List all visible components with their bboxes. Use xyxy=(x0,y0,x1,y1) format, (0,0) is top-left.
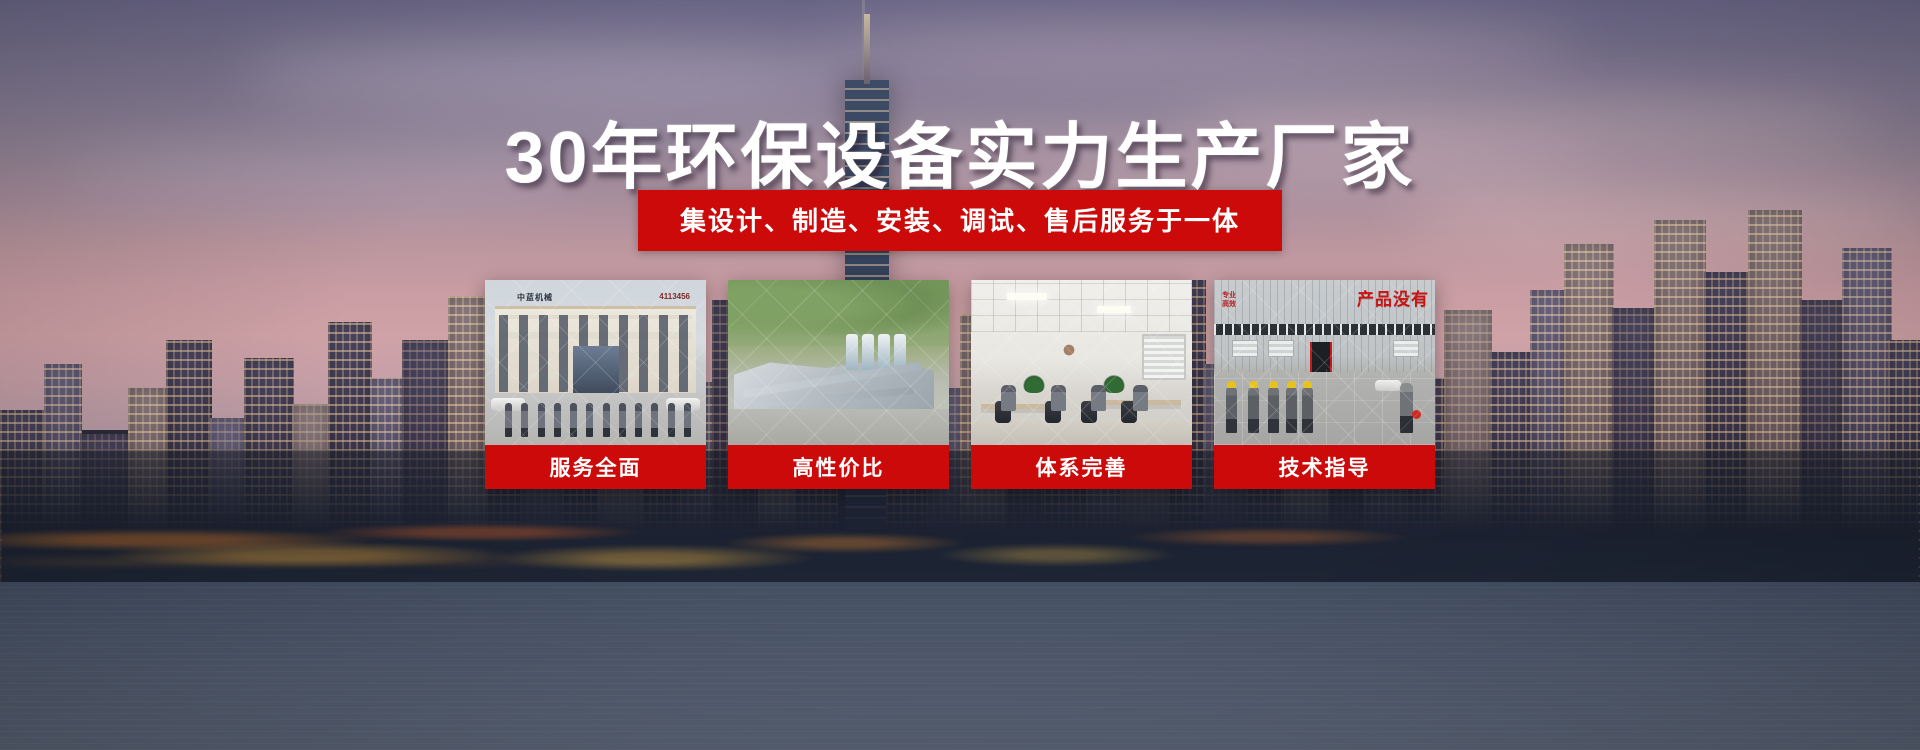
river-water xyxy=(0,582,1920,750)
subtitle-banner: 集设计、制造、安装、调试、售后服务于一体 xyxy=(638,190,1282,251)
card-label: 技术指导 xyxy=(1214,445,1435,489)
card-label: 服务全面 xyxy=(485,445,706,489)
card-photo-headquarters: 中蓝机械 4113456 xyxy=(485,280,706,445)
feature-card[interactable]: 专业高效 产品没有 技术指导 xyxy=(1214,280,1435,489)
feature-card-list: 中蓝机械 4113456 服务全面 高性价比 xyxy=(0,280,1920,489)
feature-card[interactable]: 高性价比 xyxy=(728,280,949,489)
feature-card[interactable]: 体系完善 xyxy=(971,280,1192,489)
subtitle-banner-wrapper: 集设计、制造、安装、调试、售后服务于一体 xyxy=(0,190,1920,251)
building-phone-text: 4113456 xyxy=(659,292,690,301)
feature-card[interactable]: 中蓝机械 4113456 服务全面 xyxy=(485,280,706,489)
factory-slogan-small: 专业高效 xyxy=(1222,291,1236,309)
card-photo-factory-workers: 专业高效 产品没有 xyxy=(1214,280,1435,445)
hero-banner: 30年环保设备实力生产厂家 集设计、制造、安装、调试、售后服务于一体 中蓝机械 … xyxy=(0,0,1920,750)
card-label: 体系完善 xyxy=(971,445,1192,489)
card-label: 高性价比 xyxy=(728,445,949,489)
building-sign-text: 中蓝机械 xyxy=(517,292,553,303)
card-photo-industrial-plant xyxy=(728,280,949,445)
card-photo-office-interior xyxy=(971,280,1192,445)
factory-sign-text: 产品没有 xyxy=(1357,285,1429,310)
page-title: 30年环保设备实力生产厂家 xyxy=(0,98,1920,203)
